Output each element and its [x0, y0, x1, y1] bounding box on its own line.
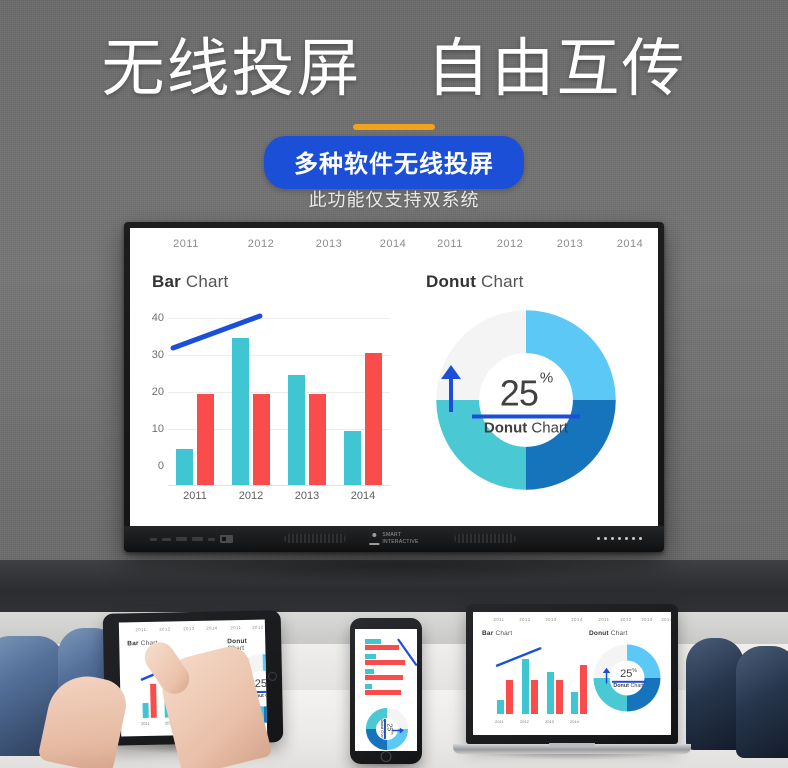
laptop-year-5: 2012 — [620, 617, 631, 622]
page-subtitle: 此功能仅支持双系统 — [0, 186, 788, 212]
promo-page: 无线投屏 自由互传 多种软件无线投屏 此功能仅支持双系统 2011 2012 2… — [0, 0, 788, 768]
top-year-right-2: 2013 — [557, 238, 583, 250]
phone-screen[interactable]: 25% Donut Chart — [355, 629, 417, 751]
headline-left: 无线投屏 — [101, 34, 361, 104]
donut-value: 25% — [446, 375, 606, 411]
laptop-year-2: 2013 — [545, 617, 556, 622]
y-tick-0: 0 — [142, 460, 164, 472]
status-led-dots — [597, 537, 642, 540]
brand-logo-text: SMART INTERACTIVE — [382, 532, 418, 545]
page-title: 无线投屏 自由互传 — [0, 36, 788, 102]
bar-a-2011 — [176, 449, 193, 486]
brand-logo-line2: INTERACTIVE — [382, 539, 418, 546]
top-year-left-2: 2013 — [316, 238, 342, 250]
donut-caption-rest: Chart — [527, 419, 568, 436]
bar-a-2014 — [344, 431, 361, 486]
donut-value-unit: % — [540, 369, 552, 386]
port-icon-5 — [208, 538, 215, 541]
laptop-device[interactable]: 2011 2012 2013 2014 2011 2012 2013 2014 … — [466, 604, 678, 752]
top-year-left-3: 2014 — [380, 238, 406, 250]
bar-group-2013[interactable] — [284, 375, 330, 486]
laptop-year-0: 2011 — [493, 617, 504, 622]
interactive-display[interactable]: 2011 2012 2013 2014 2011 2012 2013 2014 … — [124, 222, 664, 552]
bar-b-2013 — [309, 394, 326, 486]
tv-ports[interactable] — [150, 535, 233, 543]
bar-chart[interactable]: 40 30 20 10 0 — [142, 306, 390, 486]
laptop-bar-title: Bar Chart — [482, 630, 512, 637]
trend-line-icon — [170, 312, 264, 352]
top-year-left-0: 2011 — [173, 238, 199, 250]
bar-b-2012 — [253, 394, 270, 486]
tablet-year-0: 2011 — [135, 627, 146, 632]
x-label-2013: 2013 — [295, 490, 319, 502]
donut-center-label: 25% Donut Chart — [446, 375, 606, 436]
title-divider — [353, 124, 435, 130]
tv-shadow — [150, 548, 650, 584]
usb-port-icon — [220, 535, 233, 543]
laptop-year-7: 2014 — [661, 617, 671, 622]
laptop-lid: 2011 2012 2013 2014 2011 2012 2013 2014 … — [466, 604, 678, 744]
bar-x-labels: 2011 2012 2013 2014 — [168, 490, 390, 506]
speaker-grille-right — [454, 534, 516, 543]
top-year-left-1: 2012 — [248, 238, 274, 250]
y-tick-10: 10 — [142, 423, 164, 435]
laptop-year-6: 2013 — [641, 617, 652, 622]
x-axis — [168, 485, 390, 486]
tablet-year-3: 2014 — [206, 625, 217, 630]
bar-group-2012[interactable] — [228, 338, 274, 486]
y-tick-20: 20 — [142, 386, 164, 398]
dashboard-canvas: 2011 2012 2013 2014 2011 2012 2013 2014 … — [130, 228, 658, 526]
bar-group-2011[interactable] — [172, 394, 218, 486]
x-label-2011: 2011 — [183, 490, 207, 502]
bar-a-2013 — [288, 375, 305, 486]
chair-right-2 — [736, 646, 788, 758]
laptop-donut-chart: 25% Donut Chart — [589, 640, 665, 716]
donut-caption: Donut Chart — [446, 419, 606, 436]
brand-logo-icon — [369, 533, 379, 545]
laptop-bar-chart: 2011 2012 2013 2014 — [485, 644, 581, 724]
phone-bar-chart — [361, 637, 415, 699]
phone-dashboard: 25% Donut Chart — [355, 629, 417, 751]
laptop-donut-title: Donut Chart — [589, 630, 628, 637]
tablet-year-2: 2013 — [183, 626, 194, 631]
tablet-year-5: 2012 — [252, 625, 263, 630]
bar-group-2014[interactable] — [340, 353, 386, 486]
laptop-trackpad-notch — [549, 743, 595, 747]
laptop-year-1: 2012 — [519, 617, 530, 622]
bar-chart-title-bold: Bar — [152, 272, 181, 291]
x-label-2012: 2012 — [239, 490, 263, 502]
laptop-year-3: 2014 — [571, 617, 582, 622]
donut-caption-bold: Donut — [484, 419, 527, 436]
bar-b-2011 — [197, 394, 214, 486]
laptop-screen[interactable]: 2011 2012 2013 2014 2011 2012 2013 2014 … — [473, 612, 671, 735]
bar-chart-title-rest: Chart — [181, 272, 229, 291]
laptop-dashboard: 2011 2012 2013 2014 2011 2012 2013 2014 … — [473, 612, 671, 735]
port-icon-3 — [176, 537, 187, 541]
brand-logo: SMART INTERACTIVE — [369, 532, 418, 545]
headline-right: 自由互传 — [427, 34, 687, 104]
tv-bottom-bezel: SMART INTERACTIVE — [124, 526, 664, 552]
donut-chart[interactable]: 25% Donut Chart — [402, 284, 650, 518]
bar-b-2014 — [365, 353, 382, 486]
top-year-right-0: 2011 — [437, 238, 463, 250]
y-tick-30: 30 — [142, 349, 164, 361]
y-tick-40: 40 — [142, 312, 164, 324]
phone-device[interactable]: 25% Donut Chart — [350, 618, 422, 764]
top-year-right-1: 2012 — [497, 238, 523, 250]
donut-value-number: 25 — [500, 372, 538, 413]
tv-screen[interactable]: 2011 2012 2013 2014 2011 2012 2013 2014 … — [130, 228, 658, 526]
laptop-year-4: 2011 — [598, 617, 609, 622]
tablet-year-4: 2011 — [230, 625, 241, 630]
bar-chart-title: Bar Chart — [152, 272, 228, 292]
port-icon-4 — [192, 537, 203, 541]
tablet-year-1: 2012 — [159, 626, 170, 631]
donut-underline — [472, 414, 580, 418]
port-icon-1 — [150, 538, 157, 541]
x-label-2014: 2014 — [351, 490, 375, 502]
tablet-home-button[interactable] — [268, 672, 277, 681]
speaker-grille-left — [284, 534, 346, 543]
phone-home-button[interactable] — [381, 751, 392, 762]
cta-button[interactable]: 多种软件无线投屏 — [264, 136, 524, 189]
port-icon-2 — [162, 538, 171, 541]
phone-trend-icon — [397, 637, 417, 669]
laptop-trend-icon — [495, 646, 543, 668]
top-year-labels: 2011 2012 2013 2014 2011 2012 2013 2014 — [130, 238, 658, 254]
bar-a-2012 — [232, 338, 249, 486]
top-year-right-3: 2014 — [617, 238, 643, 250]
phone-donut-chart: 25% Donut Chart — [363, 705, 411, 751]
